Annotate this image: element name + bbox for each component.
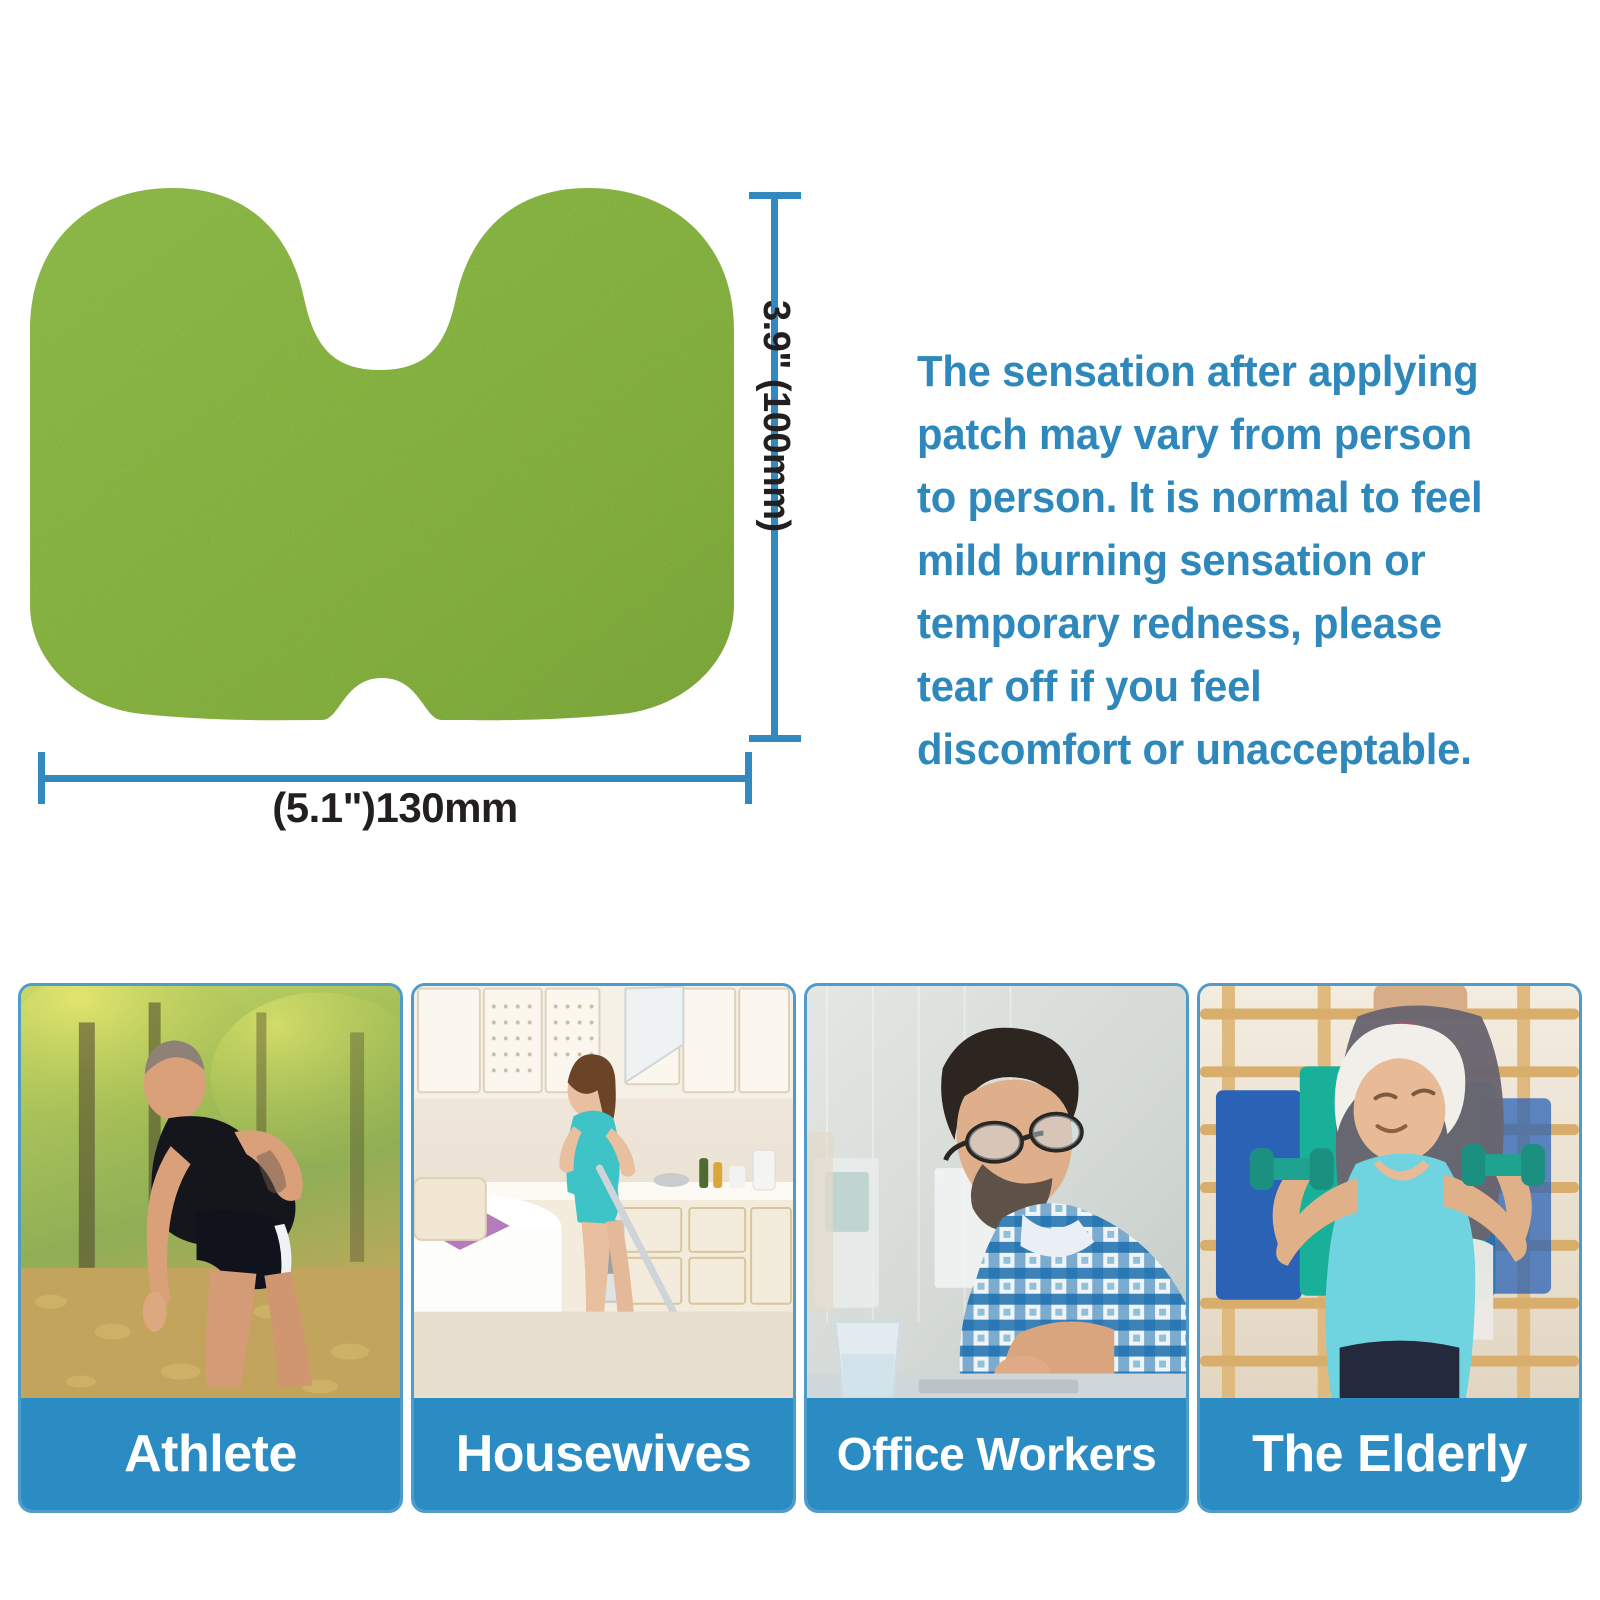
width-dimension-label: (5.1")130mm [38,784,752,832]
persona-card-office-workers[interactable]: Office Workers [804,983,1189,1513]
athlete-photo [21,986,400,1398]
persona-label-office-workers: Office Workers [807,1398,1186,1510]
product-patch-illustration [22,180,742,800]
persona-label-housewives: Housewives [414,1398,793,1510]
width-dimension-line [38,775,752,782]
persona-label-athlete: Athlete [21,1398,400,1510]
height-dimension-label: 3.9" (100mm) [466,300,796,340]
housewives-photo [414,986,793,1398]
persona-card-the-elderly[interactable]: The Elderly [1197,983,1582,1513]
persona-card-athlete[interactable]: Athlete [18,983,403,1513]
height-dimension-cap-bottom [749,735,801,742]
height-dimension-cap-top [749,192,801,199]
patch-shape [30,188,734,720]
target-users-section: Athlete [0,983,1600,1513]
product-overview-section: 3.9" (100mm) (5.1")130mm The sensation a… [0,0,1600,950]
the-elderly-photo [1200,986,1579,1398]
office-workers-photo [807,986,1186,1398]
usage-notice-text: The sensation after applying patch may v… [917,340,1487,781]
persona-card-housewives[interactable]: Housewives [411,983,796,1513]
persona-label-the-elderly: The Elderly [1200,1398,1579,1510]
